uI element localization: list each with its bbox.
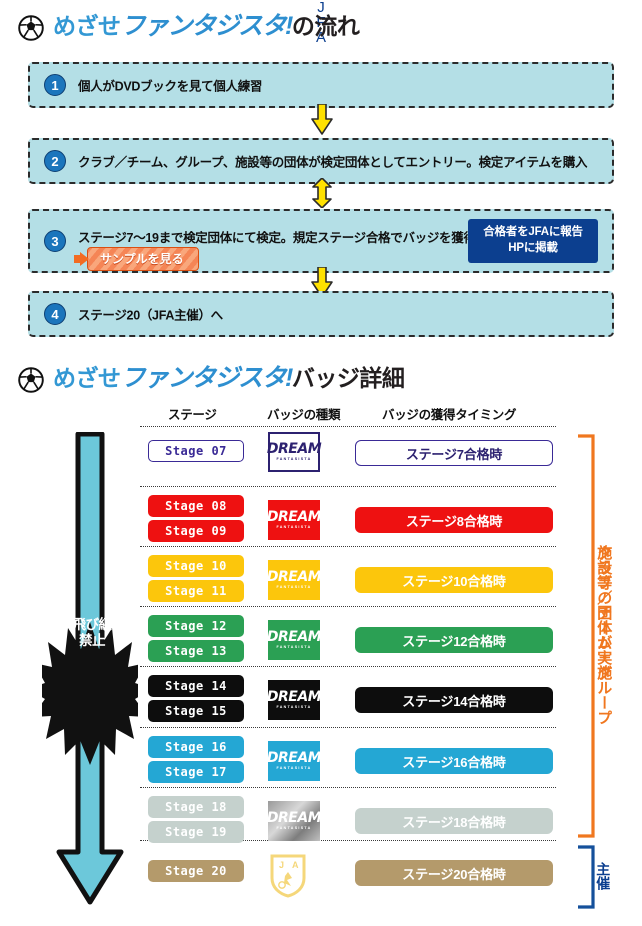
flow-section-heading: めざせファンタジスタ!の流れ [18,14,359,41]
arrow-down-icon [311,104,333,136]
badge-section-heading: めざせファンタジスタ!バッジ詳細 [18,366,404,393]
stage-chip: Stage 20 [148,860,244,882]
stage-cell: Stage 12Stage 13 [148,615,244,665]
soccer-ball-icon [18,367,44,393]
dream-badge-art: DREAMFANTASISTA [268,801,320,841]
stage-cell: Stage 20 [148,860,244,885]
jfa-report-line2: HPに掲載 [508,241,557,257]
jfa-shield-icon: JA [268,852,308,898]
stage-cell: Stage 08Stage 09 [148,495,244,545]
timing-cell: ステージ8合格時 [355,507,553,533]
badge-type-cell: DREAMFANTASISTA [268,500,330,540]
timing-chip: ステージ18合格時 [355,808,553,834]
timing-chip: ステージ10合格時 [355,567,553,593]
stage-chip: Stage 14 [148,675,244,697]
dream-badge-subtitle: FANTASISTA [276,526,311,530]
timing-chip: ステージ12合格時 [355,627,553,653]
jfa-report-box: 合格者をJFAに報告 HPに掲載 [468,219,598,263]
stage-chip: Stage 11 [148,580,244,602]
dream-badge-word: DREAM [267,690,321,704]
column-header-timing: バッジの獲得タイミング [382,404,516,423]
stage-chip: Stage 15 [148,700,244,722]
step-text: ステージ7〜19まで検定団体にて検定。規定ステージ合格でバッジを獲得 [78,227,476,246]
badge-type-cell: DREAMFANTASISTA [268,560,330,600]
timing-cell: ステージ12合格時 [355,627,553,653]
stage-chip: Stage 18 [148,796,244,818]
org-bracket-label: クラブ／チーム・グループ 施設等の団体が実施 [596,545,611,795]
step-number-badge: 3 [44,230,66,252]
dream-badge-subtitle: FANTASISTA [276,767,311,771]
dream-badge-subtitle: FANTASISTA [276,827,311,831]
badge-type-cell: JA [268,852,330,898]
jfa-report-line1: 合格者をJFAに報告 [483,225,583,241]
dream-badge-art: DREAMFANTASISTA [268,500,320,540]
timing-chip: ステージ8合格時 [355,507,553,533]
step-number-badge: 1 [44,74,66,96]
no-skip-arrow-icon [42,432,138,910]
timing-cell: ステージ7合格時 [355,440,553,466]
jfa-bracket-label-sub: 主催 [596,862,610,890]
dream-badge-word: DREAM [267,510,321,524]
stage-chip: Stage 19 [148,821,244,843]
dream-badge-subtitle: FANTASISTA [276,646,311,650]
org-bracket [578,434,596,838]
flow-title-logo: ファンタジスタ! [121,12,292,40]
timing-cell: ステージ16合格時 [355,748,553,774]
badge-title-suffix: バッジ詳細 [292,365,405,391]
step-text: 個人がDVDブックを見て個人練習 [78,76,262,95]
stage-chip: Stage 13 [148,640,244,662]
org-bracket-label-line2: 施設等の団体が実施 [596,545,611,680]
timing-cell: ステージ18合格時 [355,808,553,834]
stage-cell: Stage 14Stage 15 [148,675,244,725]
stage-chip: Stage 16 [148,736,244,758]
flow-title-prefix: めざせ [53,13,121,39]
badge-type-cell: DREAMFANTASISTA [268,432,330,472]
stage-chip: Stage 08 [148,495,244,517]
dream-badge-art: DREAMFANTASISTA [268,741,320,781]
step-text: ステージ20（JFA主催）へ [78,305,223,324]
timing-chip: ステージ7合格時 [355,440,553,466]
timing-chip: ステージ20合格時 [355,860,553,886]
dream-badge-word: DREAM [267,570,321,584]
stage-chip: Stage 17 [148,761,244,783]
arrow-right-icon [80,252,89,266]
row-divider [140,546,556,547]
arrow-up-down-icon [311,178,333,208]
stage-cell: Stage 18Stage 19 [148,796,244,846]
badge-type-cell: DREAMFANTASISTA [268,620,330,660]
flow-step-4: 4 ステージ20（JFA主催）へ [28,291,614,337]
timing-cell: ステージ20合格時 [355,860,553,886]
row-divider [140,787,556,788]
dream-badge-art: DREAMFANTASISTA [268,560,320,600]
soccer-ball-icon [18,15,44,41]
dream-badge-subtitle: FANTASISTA [276,458,311,462]
dream-badge-word: DREAM [267,811,321,825]
stage-cell: Stage 07 [148,440,244,465]
dream-badge-subtitle: FANTASISTA [276,586,311,590]
dream-badge-word: DREAM [267,751,321,765]
flow-title: めざせファンタジスタ!の流れ [53,14,359,41]
jfa-bracket [578,845,596,909]
flow-title-suffix: の流れ [292,13,360,39]
badge-type-cell: DREAMFANTASISTA [268,801,330,841]
stage-cell: Stage 10Stage 11 [148,555,244,605]
timing-chip: ステージ14合格時 [355,687,553,713]
row-divider [140,606,556,607]
view-sample-button[interactable]: サンプルを見る [87,247,199,271]
column-header-stage: ステージ [168,404,217,423]
row-divider [140,426,556,427]
dream-badge-art: DREAMFANTASISTA [268,620,320,660]
flow-step-1: 1 個人がDVDブックを見て個人練習 [28,62,614,108]
badge-type-cell: DREAMFANTASISTA [268,680,330,720]
step-number-badge: 2 [44,150,66,172]
dream-badge-art: DREAMFANTASISTA [268,432,320,472]
stage-chip: Stage 10 [148,555,244,577]
step-text: クラブ／チーム、グループ、施設等の団体が検定団体としてエントリー。検定アイテムを… [78,152,587,171]
sample-button-row[interactable]: サンプルを見る [74,247,199,271]
stage-cell: Stage 16Stage 17 [148,736,244,786]
timing-chip: ステージ16合格時 [355,748,553,774]
dream-badge-art: DREAMFANTASISTA [268,680,320,720]
stage-chip: Stage 07 [148,440,244,462]
timing-cell: ステージ14合格時 [355,687,553,713]
stage-chip: Stage 12 [148,615,244,637]
dream-badge-subtitle: FANTASISTA [276,706,311,710]
badge-title-logo: ファンタジスタ! [121,364,292,392]
badge-type-cell: DREAMFANTASISTA [268,741,330,781]
badge-title: めざせファンタジスタ!バッジ詳細 [53,366,404,393]
dream-badge-word: DREAM [267,442,321,456]
dream-badge-word: DREAM [267,630,321,644]
step-number-badge: 4 [44,303,66,325]
column-header-type: バッジの種類 [267,404,340,423]
row-divider [140,486,556,487]
flow-step-3: 3 ステージ7〜19まで検定団体にて検定。規定ステージ合格でバッジを獲得 サンプ… [28,209,614,273]
stage-chip: Stage 09 [148,520,244,542]
svg-text:J: J [279,860,284,870]
timing-cell: ステージ10合格時 [355,567,553,593]
badge-title-prefix: めざせ [53,365,121,391]
row-divider [140,727,556,728]
row-divider [140,666,556,667]
svg-text:A: A [292,860,299,870]
